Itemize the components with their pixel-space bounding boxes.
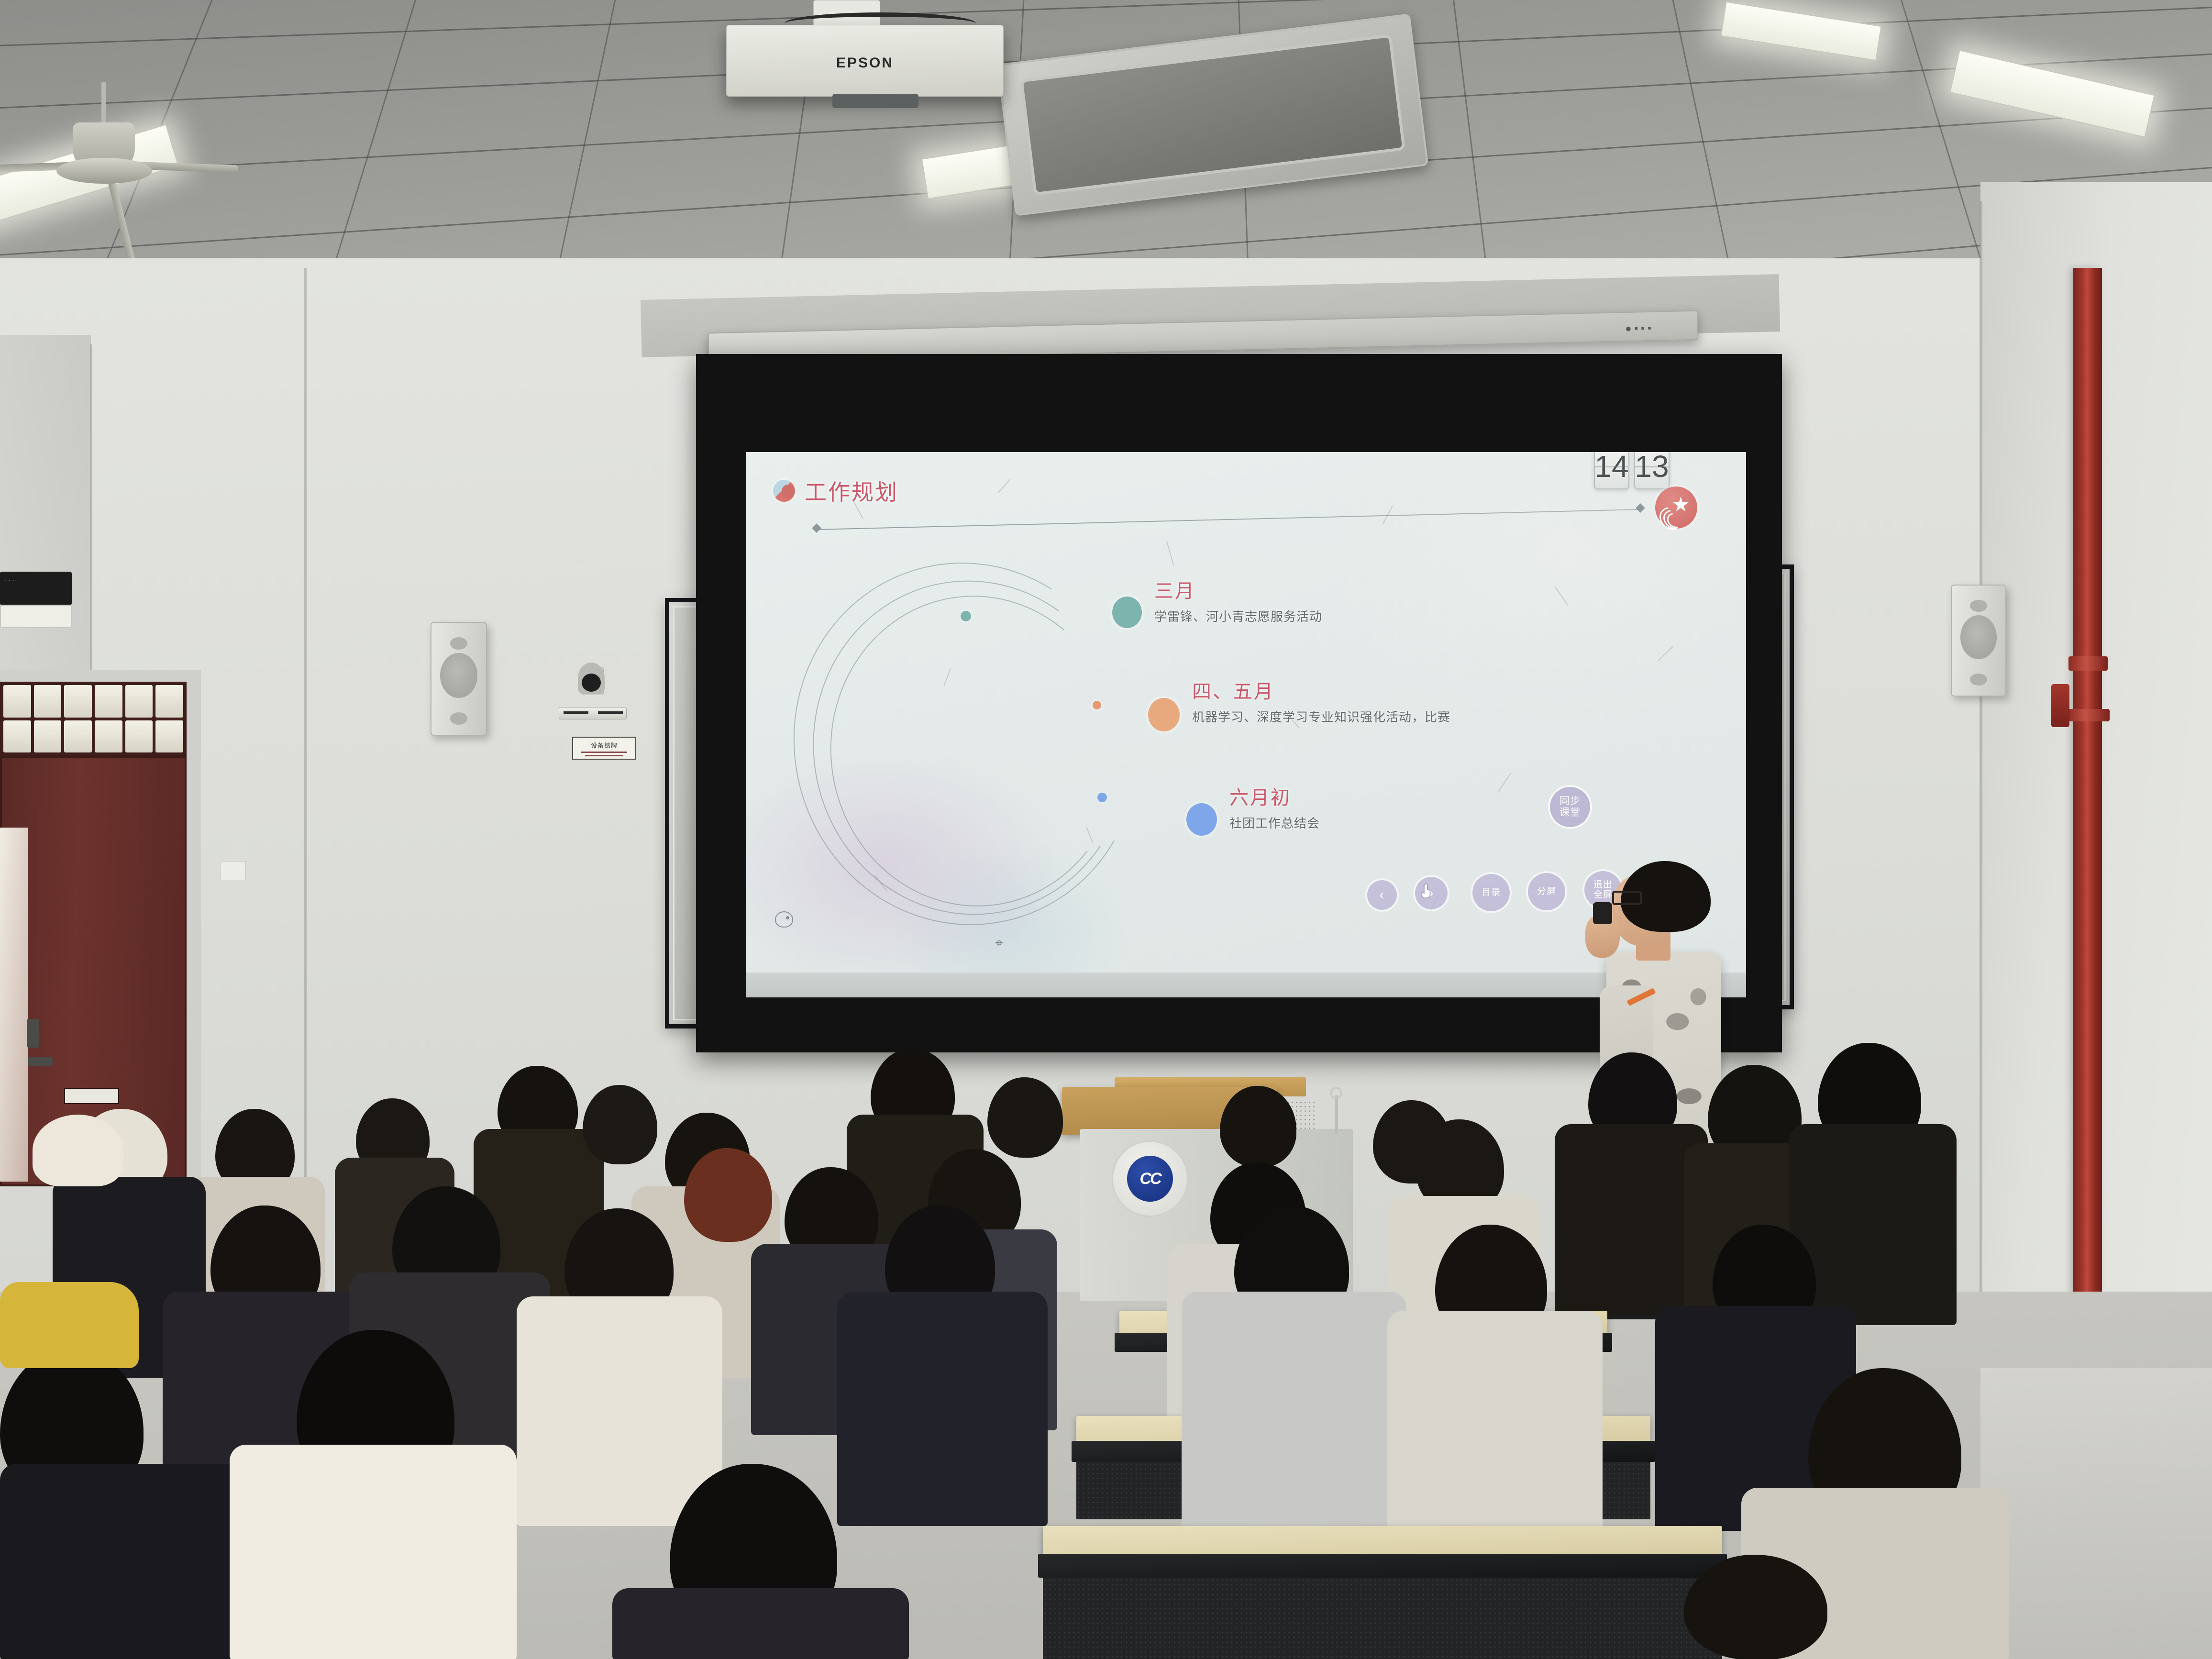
projector-lens: [832, 94, 918, 108]
wall-speaker-left: [431, 622, 487, 736]
door-gap: [0, 828, 28, 1182]
wall-panel-plate: [0, 605, 72, 628]
door-handle[interactable]: [28, 1057, 53, 1066]
roller-indicator-dots: ●▪▪▪: [1625, 321, 1654, 334]
exit-label-line2: 全屏: [1593, 890, 1613, 900]
rule-end-diamond: [1636, 503, 1645, 513]
shooting-star-logo: [1655, 487, 1697, 529]
orbit-dot: [1097, 793, 1107, 802]
slide-title: 工作规划: [805, 475, 898, 507]
palette-icon[interactable]: [775, 911, 793, 928]
audience-body: [837, 1292, 1048, 1526]
bench-desk-edge: [1038, 1554, 1727, 1578]
exit-label-line1: 退出: [1593, 880, 1613, 890]
timeline-desc: 机器学习、深度学习专业知识强化活动，比赛: [1192, 708, 1450, 727]
split-screen-button[interactable]: 分屏: [1528, 873, 1565, 910]
timeline-month: 三月: [1154, 575, 1322, 603]
camera-lens: [582, 674, 601, 692]
slide-bottom-band: [746, 973, 1746, 997]
timeline-desc: 社团工作总结会: [1229, 814, 1320, 833]
bench-desk: [1043, 1526, 1722, 1558]
prev-slide-button[interactable]: ‹: [1367, 880, 1397, 910]
classroom-scene: EPSON ··· 设备铭牌: [0, 0, 2212, 1659]
orbit-dot: [1093, 701, 1101, 709]
slide-title-group: 工作规划: [773, 475, 898, 507]
timeline-item: 六月初 社团工作总结会: [1186, 782, 1320, 836]
presenter-glasses: [1612, 891, 1642, 905]
pipe-branch-stub: [2051, 684, 2069, 727]
hand-cursor-icon: [1419, 881, 1433, 900]
wall-speaker-right: [1951, 585, 2006, 697]
timeline-dot: [1112, 597, 1142, 628]
timeline-desc: 学雷锋、河小青志愿服务活动: [1154, 607, 1322, 626]
projector: EPSON: [726, 25, 1004, 97]
door-push-plate[interactable]: [64, 1088, 119, 1104]
light-switch[interactable]: [220, 861, 246, 880]
page-current: 14: [1594, 452, 1629, 489]
timeline-dot: [1148, 698, 1180, 731]
audience-head: [684, 1148, 772, 1242]
audience-body: [612, 1588, 909, 1659]
prev-chevron-icon: ‹: [1380, 887, 1385, 903]
timeline-item: 四、五月 机器学习、深度学习专业知识强化活动，比赛: [1148, 676, 1450, 731]
slide-page-indicator: 14 13: [1594, 452, 1670, 489]
slide-title-rule: [816, 509, 1639, 530]
sync-label-line2: 课堂: [1559, 807, 1581, 818]
audience-hat: [33, 1115, 123, 1186]
door-lock[interactable]: [27, 1019, 39, 1048]
audience-head: [583, 1085, 657, 1164]
equipment-plaque: 设备铭牌: [572, 737, 636, 760]
audience-head: [987, 1077, 1063, 1158]
door-transom: [0, 682, 187, 756]
audience-body: [230, 1445, 517, 1659]
timeline-dot: [1186, 803, 1217, 836]
plaque-title: 设备铭牌: [591, 741, 618, 750]
projector-brand-label: EPSON: [727, 55, 1003, 71]
podium-emblem-text: CC: [1127, 1156, 1172, 1201]
timeline-month: 四、五月: [1192, 676, 1450, 704]
camera-bracket-slit: [598, 711, 623, 714]
handheld-microphone: [1593, 902, 1612, 924]
podium-mic-head: [1330, 1087, 1342, 1099]
audience-head: [1220, 1086, 1296, 1167]
audience-body: [1387, 1311, 1603, 1540]
audience-bag: [0, 1282, 139, 1368]
sync-label-line1: 同步: [1559, 796, 1581, 807]
pipe-collar: [2068, 656, 2108, 671]
audience-body: [517, 1296, 722, 1526]
rule-end-diamond: [812, 523, 821, 533]
timeline-month: 六月初: [1229, 782, 1320, 810]
sync-classroom-button[interactable]: 同步 课堂: [1550, 787, 1590, 827]
floor-right-strip: [1980, 1368, 2212, 1659]
ceiling-fan-hub: [56, 158, 152, 184]
camera-bracket-slit: [564, 711, 588, 714]
orbit-dot: [961, 611, 971, 621]
text-cursor-icon: ⌖: [995, 935, 1003, 951]
split-screen-label: 分屏: [1537, 886, 1556, 896]
audience-body: [0, 1464, 249, 1659]
bench-under-panel: [1043, 1578, 1722, 1659]
timeline-item: 三月 学雷锋、河小青志愿服务活动: [1112, 575, 1322, 628]
wall-seam: [1980, 201, 1982, 1426]
podium-mic-stand: [1335, 1095, 1338, 1134]
contents-button[interactable]: 目录: [1472, 874, 1510, 911]
audience-body: [1182, 1292, 1406, 1531]
wall-control-panel[interactable]: ···: [0, 572, 72, 605]
slide-title-badge-icon: [773, 480, 795, 502]
pipe-collar: [2067, 709, 2110, 721]
podium-emblem: CC: [1112, 1140, 1188, 1217]
fire-sprinkler-pipe: [2073, 268, 2102, 1397]
contents-label: 目录: [1482, 887, 1501, 897]
page-total: 13: [1634, 452, 1670, 489]
